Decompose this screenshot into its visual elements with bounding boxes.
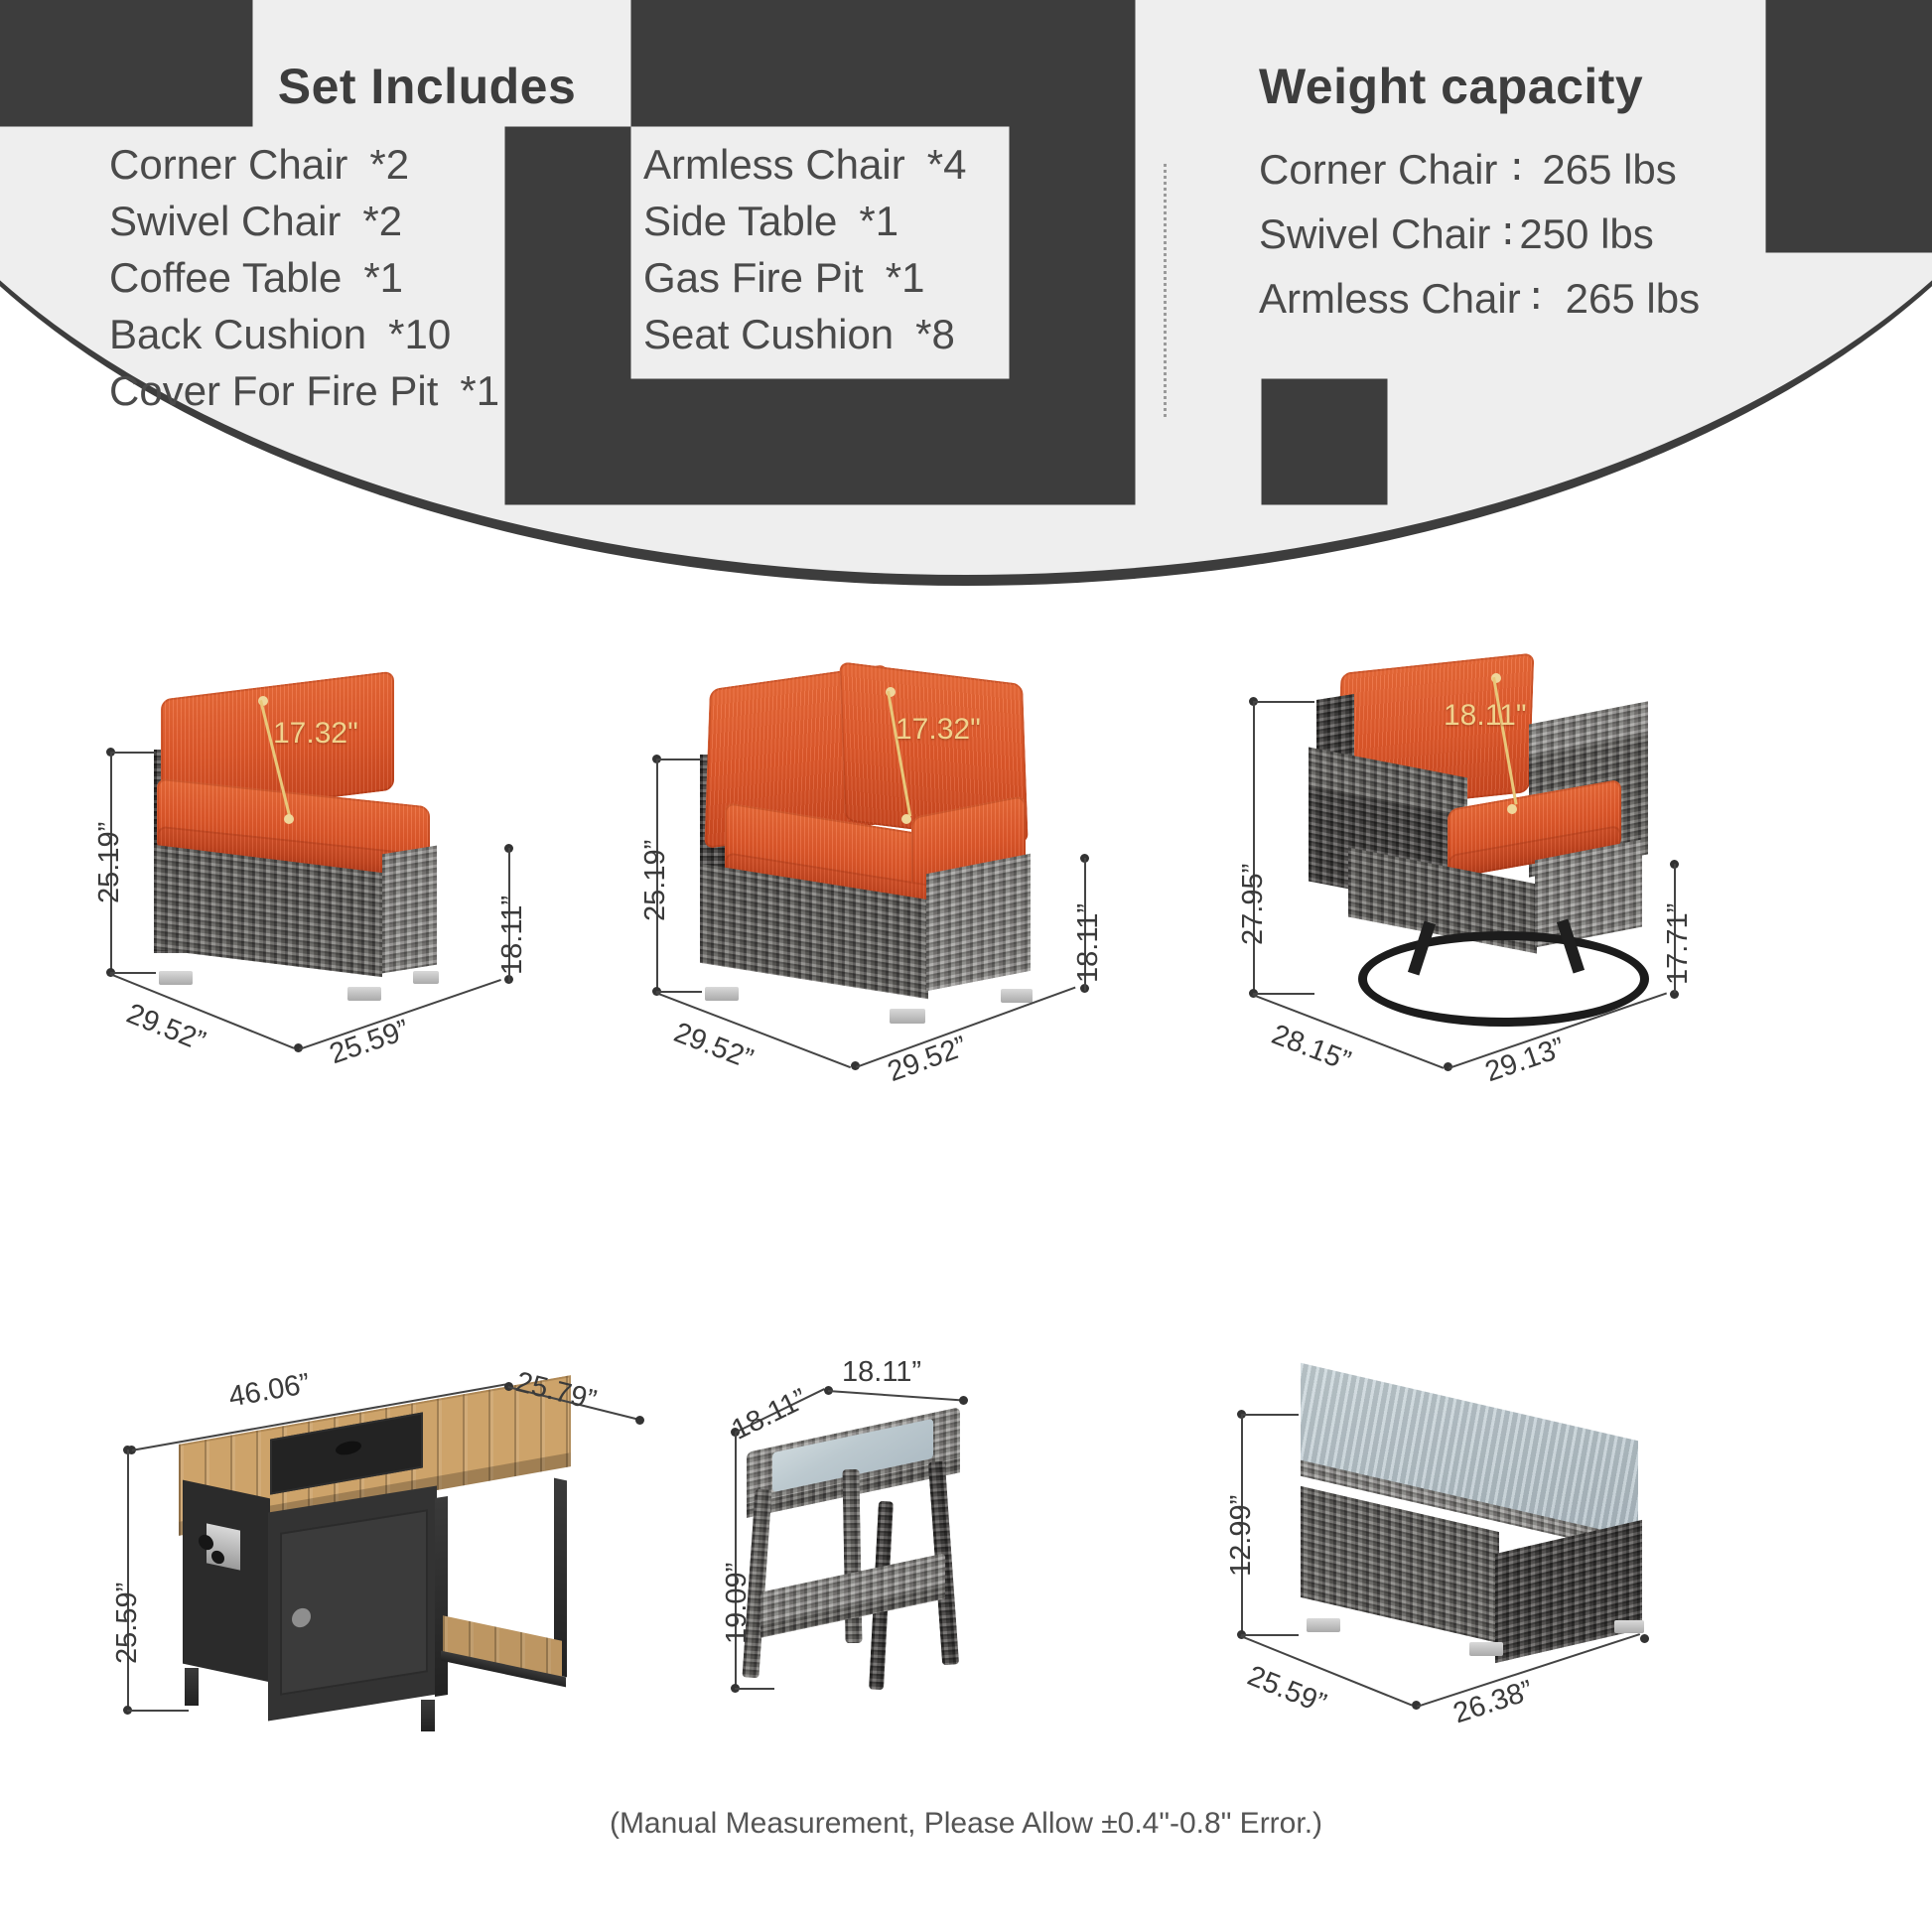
dim-tick <box>656 991 702 993</box>
set-includes-title: Set Includes <box>109 58 745 115</box>
list-item: Side Table *1 <box>625 198 1142 245</box>
dim-line-vertical <box>1253 701 1255 993</box>
list-item: Corner Chair ∶ 265 lbs <box>1259 145 1874 194</box>
coffee-table-width-dim-label: 26.38” <box>1449 1675 1537 1731</box>
set-item-label: Coffee Table <box>109 254 342 302</box>
dim-tick <box>1241 1634 1299 1636</box>
set-item-qty: *10 <box>388 311 451 358</box>
set-item-qty: *2 <box>369 141 409 189</box>
armless-chair-foot <box>347 987 381 1001</box>
product-side-table: 18.11” 18.11” 19.09” <box>725 1350 1142 1767</box>
product-illustration-grid: 17.32" 25.19” 29.52” 25.59” 18.11” <box>0 655 1932 1767</box>
armless-width-dim-label: 25.59” <box>326 1014 413 1071</box>
dim-endpoint-dot <box>959 1396 968 1405</box>
coffee-table-foot <box>1307 1618 1340 1632</box>
colon-glyph: ∶ <box>1502 209 1513 258</box>
set-item-label: Cover For Fire Pit <box>109 367 438 415</box>
set-item-label: Seat Cushion <box>643 311 894 358</box>
section-divider <box>1164 164 1167 417</box>
armless-height-dim-label: 25.19” <box>93 822 126 903</box>
fire-pit-foot-left <box>185 1668 199 1706</box>
armless-chair-foot <box>413 971 439 984</box>
capacity-value: 250 lbs <box>1519 210 1653 258</box>
weight-capacity-title: Weight capacity <box>1259 58 1874 115</box>
set-item-qty: *4 <box>927 141 967 189</box>
set-item-qty: *1 <box>363 254 403 302</box>
coffee-table-foot <box>1469 1642 1503 1656</box>
header-banner: Set Includes Corner Chair *2 Armless Cha… <box>0 0 1932 596</box>
list-item: Swivel Chair *2 <box>109 198 625 245</box>
gold-dim-endpoint-dot <box>1507 804 1517 814</box>
list-item: Coffee Table *1 <box>109 254 625 302</box>
corner-chair-base-right <box>926 854 1031 991</box>
swivel-cushion-dim-label: 18.11" <box>1444 699 1527 733</box>
dim-tick <box>1253 993 1314 995</box>
corner-chair-foot <box>1001 989 1033 1003</box>
list-item: Back Cushion *10 <box>109 311 625 358</box>
weight-capacity-section: Weight capacity Corner Chair ∶ 265 lbs S… <box>1259 58 1874 339</box>
list-item: Cover For Fire Pit *1 <box>109 367 625 415</box>
set-item-qty: *2 <box>362 198 402 245</box>
dim-line-vertical <box>735 1432 737 1688</box>
colon-glyph: ∶ <box>1531 274 1542 323</box>
armless-chair-foot <box>159 971 193 985</box>
list-item: Gas Fire Pit *1 <box>625 254 1142 302</box>
set-item-label: Armless Chair <box>643 141 905 189</box>
list-item: Armless Chair *4 <box>625 141 1142 189</box>
list-item: Armless Chair ∶ 265 lbs <box>1259 274 1874 323</box>
product-gas-fire-pit: 46.06” 25.79” 25.59” <box>79 1350 715 1767</box>
capacity-value: 265 lbs <box>1542 146 1676 194</box>
dim-endpoint-dot <box>1640 1634 1649 1643</box>
corner-chair-foot <box>705 987 739 1001</box>
swivel-seat-height-dim-label: 17.71” <box>1662 903 1695 985</box>
coffee-table-foot <box>1614 1620 1644 1633</box>
coffee-table-height-dim-label: 12.99” <box>1225 1495 1258 1577</box>
fire-pit-leg-rear <box>435 1496 448 1697</box>
armless-chair-base-right <box>382 846 437 974</box>
dim-tick <box>110 752 156 754</box>
side-table-depth-dim-label: 18.11” <box>727 1383 812 1448</box>
list-item: Seat Cushion *8 <box>625 311 1142 358</box>
fire-pit-cabinet-door <box>280 1509 428 1696</box>
dim-tick <box>1241 1414 1299 1416</box>
capacity-label: Armless Chair <box>1259 275 1521 323</box>
set-item-label: Gas Fire Pit <box>643 254 864 302</box>
dim-line-diagonal <box>828 1390 965 1402</box>
product-coffee-table: 12.99” 25.59” 26.38” <box>1172 1350 1787 1767</box>
dim-tick <box>127 1710 189 1712</box>
side-table-width-dim-label: 18.11” <box>842 1356 921 1389</box>
set-item-label: Swivel Chair <box>109 198 341 245</box>
gold-dim-endpoint-dot <box>901 814 911 824</box>
set-item-label: Corner Chair <box>109 141 347 189</box>
coffee-table-depth-dim-label: 25.59” <box>1243 1660 1331 1721</box>
product-swivel-chair: 18.11" 27.95” 28.15” 29.13” 17.71” <box>1231 655 1787 1172</box>
fire-pit-height-dim-label: 25.59” <box>111 1583 144 1664</box>
set-item-label: Side Table <box>643 198 837 245</box>
dim-tick <box>1253 701 1314 703</box>
corner-height-dim-label: 25.19” <box>639 840 672 921</box>
gold-dim-endpoint-dot <box>284 814 294 824</box>
colon-glyph: ∶ <box>1511 145 1522 194</box>
swivel-height-dim-label: 27.95” <box>1237 864 1270 945</box>
armless-seat-height-dim-label: 18.11” <box>496 896 529 975</box>
capacity-label: Corner Chair <box>1259 146 1497 194</box>
set-item-qty: *1 <box>460 367 499 415</box>
dim-tick <box>656 759 702 760</box>
banner-content: Set Includes Corner Chair *2 Armless Cha… <box>0 0 1932 467</box>
fire-pit-cabinet-left <box>183 1480 270 1683</box>
list-item: Swivel Chair ∶ 250 lbs <box>1259 209 1874 258</box>
set-includes-list: Corner Chair *2 Armless Chair *4 Swivel … <box>109 141 1162 415</box>
corner-seat-height-dim-label: 18.11” <box>1072 903 1105 983</box>
dim-tick <box>110 972 156 974</box>
product-armless-chair: 17.32" 25.19” 29.52” 25.59” 18.11” <box>99 655 616 1172</box>
corner-chair-foot <box>890 1009 925 1024</box>
measurement-disclaimer: (Manual Measurement, Please Allow ±0.4"-… <box>0 1807 1932 1841</box>
set-item-qty: *1 <box>859 198 898 245</box>
list-item: Corner Chair *2 <box>109 141 625 189</box>
set-item-qty: *8 <box>915 311 955 358</box>
set-includes-section: Set Includes Corner Chair *2 Armless Cha… <box>109 58 1162 415</box>
fire-pit-foot-front <box>421 1700 435 1731</box>
dim-line-vertical <box>127 1449 129 1710</box>
set-item-label: Back Cushion <box>109 311 366 358</box>
capacity-label: Swivel Chair <box>1259 210 1490 258</box>
dim-tick <box>735 1688 774 1690</box>
armless-cushion-dim-label: 17.32" <box>273 717 358 751</box>
set-item-qty: *1 <box>886 254 925 302</box>
corner-cushion-dim-label: 17.32" <box>896 713 981 747</box>
product-corner-chair: 17.32" 25.19” 29.52” 29.52” 18.11” <box>645 655 1201 1172</box>
side-table-height-dim-label: 19.09” <box>721 1563 754 1644</box>
dim-endpoint-dot <box>635 1416 644 1425</box>
capacity-value: 265 lbs <box>1566 275 1700 323</box>
fire-pit-length-dim-label: 46.06” <box>226 1368 313 1415</box>
